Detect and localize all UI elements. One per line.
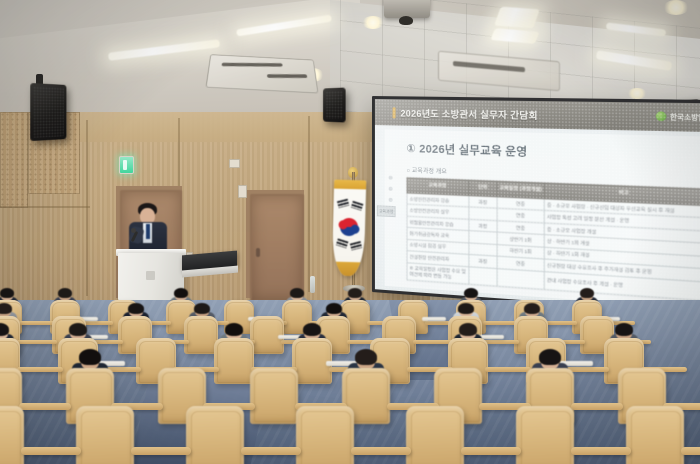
ac-vent	[267, 74, 307, 78]
seat-armrest	[571, 403, 623, 410]
screen-surface: 2026년도 소방관서 실무자 간담회 한국소방안전원 교육과정 ① 2026년…	[375, 99, 700, 315]
wall-seam	[0, 206, 90, 208]
table-cell: ※ 교육일정은 사업장 수요 및 여건에 따라 변동 가능	[407, 263, 468, 284]
auditorium-seat[interactable]	[296, 406, 354, 464]
table-header-cell: 단위	[468, 180, 497, 197]
slide-header-title: 2026년도 소방관서 실무자 간담회	[401, 106, 538, 122]
emergency-exit-sign	[119, 156, 134, 174]
audience-hair	[524, 303, 540, 314]
projection-screen: 2026년도 소방관서 실무자 간담회 한국소방안전원 교육과정 ① 2026년…	[372, 96, 700, 319]
auditorium-seat[interactable]	[626, 406, 684, 464]
flag-gold-fringe-top	[334, 180, 366, 190]
audience-hair	[0, 323, 9, 336]
flag-trigram	[350, 241, 362, 251]
flag-trigram	[336, 238, 349, 248]
auditorium-seat[interactable]	[76, 406, 134, 464]
seat-armrest	[131, 447, 191, 456]
ceiling-downlight	[663, 0, 689, 15]
table-cell	[468, 266, 497, 285]
audience-hair	[615, 323, 633, 336]
wall-seam	[86, 120, 88, 296]
wall-plate	[229, 159, 240, 168]
slide-side-tag: 교육과정	[377, 205, 396, 217]
auditorium-seat[interactable]	[406, 406, 464, 464]
seat-tablet-arm[interactable]	[422, 317, 446, 321]
ac-vent	[222, 63, 283, 67]
slide-header-accent	[393, 107, 396, 118]
seat-armrest	[681, 447, 700, 456]
table-cell	[497, 268, 544, 289]
door-right[interactable]	[250, 194, 304, 302]
audience-hair	[303, 323, 321, 336]
audience-hair	[0, 303, 12, 314]
auditorium-seat[interactable]	[186, 406, 244, 464]
audience-hair	[464, 288, 478, 298]
door-knob-icon[interactable]	[256, 248, 260, 257]
auditorium-seat[interactable]	[516, 406, 574, 464]
seat-armrest	[413, 340, 453, 345]
taegukgi-korean-flag	[332, 180, 367, 277]
slide-header-bar: 2026년도 소방관서 실무자 간담회 한국소방안전원	[375, 99, 700, 132]
ceiling-downlight	[627, 88, 647, 99]
audience-hair	[0, 288, 14, 298]
auditorium-scene: 2026년도 소방관서 실무자 간담회 한국소방안전원 교육과정 ① 2026년…	[0, 0, 700, 464]
speaker-grill	[326, 91, 343, 120]
audience-hair	[225, 323, 243, 336]
exit-running-man-icon	[123, 160, 127, 170]
seat-armrest	[241, 447, 301, 456]
audience-hair	[79, 349, 101, 365]
seat-armrest	[351, 447, 411, 456]
flag-trigram	[351, 201, 364, 211]
seat-armrest	[21, 447, 81, 456]
ac-vent	[453, 61, 525, 72]
audience-hair	[290, 288, 304, 298]
org-logo-text: 한국소방안전원	[670, 110, 700, 122]
seat-armrest	[461, 447, 521, 456]
wall-switch-plate[interactable]	[238, 185, 247, 198]
microphone-head-icon	[131, 228, 136, 233]
slide-table: 교육과정 단위 교육일정 (과정개설) 비고 소방안전관리자 강습과정연중중 ·…	[406, 177, 700, 301]
screen-frame: 2026년도 소방관서 실무자 간담회 한국소방안전원 교육과정 ① 2026년…	[372, 96, 700, 319]
seat-armrest	[571, 447, 631, 456]
panel-perforation	[0, 112, 28, 208]
water-bottle[interactable]	[310, 276, 315, 293]
acoustic-wall-panel	[0, 112, 28, 208]
flag-taeguk-circle	[337, 215, 361, 239]
flag-trigram	[337, 199, 349, 209]
speaker-grill	[33, 86, 63, 138]
audience-hair	[355, 349, 377, 365]
ceiling-linear-light	[494, 7, 540, 29]
audience-hair	[194, 303, 210, 314]
wall-speaker-center	[323, 87, 346, 122]
ceiling-downlight	[362, 16, 384, 29]
auditorium-seat[interactable]	[0, 406, 24, 464]
slide-title: ① 2026년 실무교육 운영	[406, 140, 700, 166]
auditorium-seat[interactable]	[214, 338, 254, 384]
audience-hair	[326, 303, 342, 314]
audience-hair	[128, 303, 144, 314]
audience-hair	[174, 288, 188, 298]
seat-armrest	[19, 403, 71, 410]
audience-hair	[459, 323, 477, 336]
audience-hair	[69, 323, 87, 336]
flag-gold-fringe-bottom	[332, 262, 364, 277]
auditorium-seat[interactable]	[184, 316, 218, 354]
seat-armrest	[17, 340, 57, 345]
seat-armrest	[17, 367, 63, 373]
projector-lens-icon	[399, 16, 413, 25]
slide-side-markers	[389, 176, 393, 202]
audience-hair	[458, 303, 474, 314]
wall-seam	[308, 116, 310, 292]
org-logo-icon	[656, 111, 666, 121]
ceiling-ac-cassette	[205, 54, 318, 93]
auditorium-seat[interactable]	[250, 368, 298, 424]
presenter-necktie	[146, 224, 150, 239]
seat-armrest	[19, 321, 55, 325]
seat-armrest	[485, 367, 531, 373]
audience-hair	[580, 288, 594, 298]
audience-hair	[539, 349, 561, 365]
audience-hair	[58, 288, 72, 298]
wall-speaker-left	[30, 83, 66, 141]
org-logo: 한국소방안전원	[656, 110, 700, 122]
podium-emblem	[146, 271, 155, 280]
slide-body: 교육과정 ① 2026년 실무교육 운영 ○ 교육과정 개요 교육과정 단위 교…	[385, 129, 700, 310]
audience-hair	[348, 288, 362, 298]
